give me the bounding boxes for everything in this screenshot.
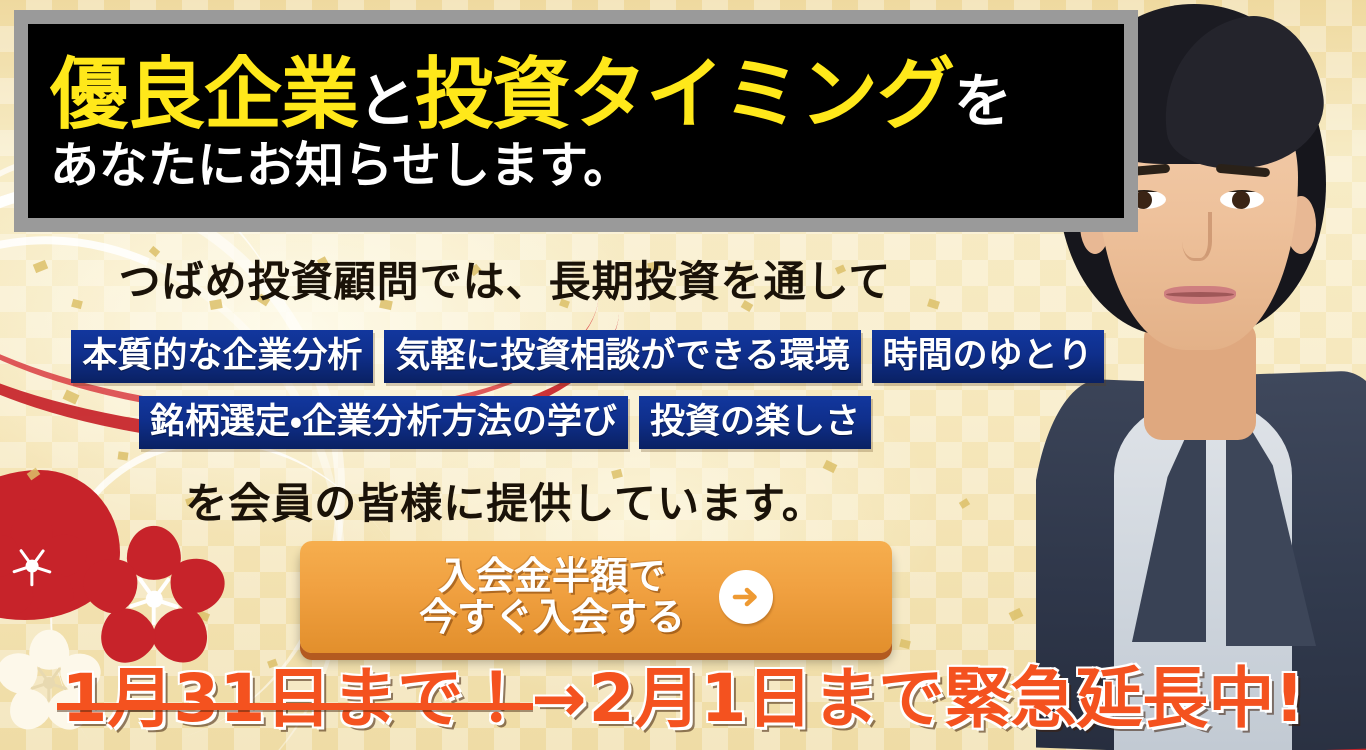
- blossom-core: [146, 591, 163, 608]
- headline-line-2: あなたにお知らせします。: [50, 140, 1124, 191]
- deadline-new-date: 2月1日まで緊急延長中!: [589, 660, 1305, 737]
- cta-label-line-1: 入会金半額で: [438, 554, 666, 598]
- feature-badge: 本質的な企業分析: [71, 330, 373, 383]
- arrow-right-circle-icon: [719, 570, 773, 624]
- promo-banner: 優良企業と投資タイミングを あなたにお知らせします。 つばめ投資顧問では、長期投…: [0, 0, 1366, 750]
- deadline-arrow: →: [529, 660, 588, 737]
- blossom-core: [26, 560, 39, 573]
- deadline-text: 1月31日まで！→2月1日まで緊急延長中!: [0, 666, 1366, 732]
- headline-run-3: を: [954, 67, 1011, 135]
- feature-badge: 投資の楽しさ: [639, 396, 871, 449]
- badge-row-1: 本質的な企業分析気軽に投資相談ができる環境時間のゆとり: [0, 330, 1175, 383]
- cta-label: 入会金半額で 今すぐ入会する: [419, 556, 693, 638]
- eye-right: [1220, 190, 1264, 209]
- nose: [1182, 212, 1212, 261]
- join-now-button[interactable]: 入会金半額で 今すぐ入会する: [300, 541, 892, 653]
- red-plum-blossom-large: [95, 540, 213, 658]
- feature-badge: 気軽に投資相談ができる環境: [384, 330, 860, 383]
- intro-line: つばめ投資顧問では、長期投資を通して: [0, 248, 1010, 309]
- headline-line-1: 優良企業と投資タイミングを: [50, 56, 1124, 134]
- feature-badge: 銘柄選定・企業分析方法の学び: [139, 396, 628, 449]
- deadline-old-date: 1月31日まで！: [61, 660, 529, 737]
- gold-flake: [117, 451, 128, 460]
- badge-row-2: 銘柄選定・企業分析方法の学び投資の楽しさ: [0, 396, 1010, 449]
- headline-run-2: 投資タイミング: [415, 50, 954, 140]
- headline-box: 優良企業と投資タイミングを あなたにお知らせします。: [28, 24, 1124, 218]
- feature-badge: 時間のゆとり: [872, 330, 1104, 383]
- headline-run-0: 優良企業: [50, 50, 358, 140]
- headline-run-1: と: [358, 67, 415, 135]
- red-plum-blossom-small: [0, 520, 78, 612]
- cta-label-line-2: 今すぐ入会する: [419, 595, 685, 639]
- mouth: [1164, 286, 1236, 304]
- headline-frame: 優良企業と投資タイミングを あなたにお知らせします。: [14, 10, 1138, 232]
- closing-line: を会員の皆様に提供しています。: [0, 470, 1010, 531]
